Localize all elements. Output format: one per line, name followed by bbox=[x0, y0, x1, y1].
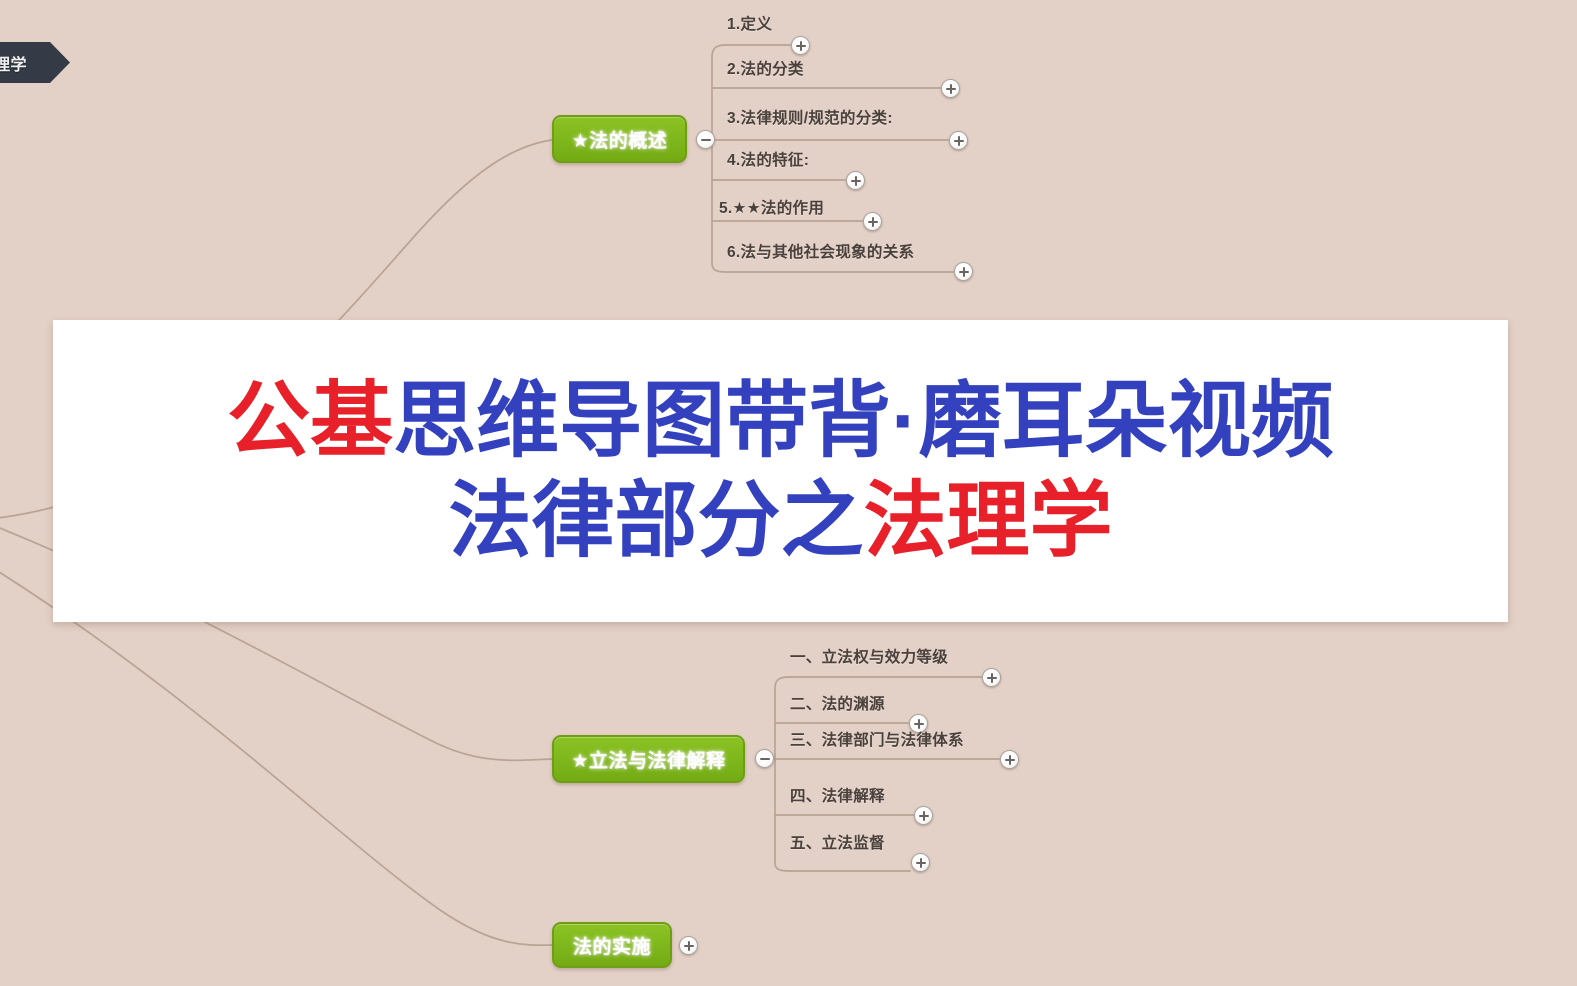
title-line-1-red: 公基 bbox=[227, 374, 393, 467]
plus-icon-enforcement[interactable] bbox=[679, 936, 698, 955]
mindmap-node-legislation-label: ★立法与法律解释 bbox=[571, 746, 725, 773]
title-banner: 公基思维导图带背·磨耳朵视频 法律部分之法理学 bbox=[53, 320, 1508, 622]
plus-icon-overview-2[interactable] bbox=[941, 79, 960, 98]
plus-icon-overview-5[interactable] bbox=[863, 212, 882, 231]
corner-tab-label: 理学 bbox=[0, 51, 27, 75]
title-line-2-red: 法理学 bbox=[864, 474, 1113, 567]
mindmap-node-enforcement-label: 法的实施 bbox=[573, 932, 651, 959]
mindmap-subnode-legislation-2[interactable]: 二、法的渊源 bbox=[790, 692, 885, 714]
plus-icon-overview-4[interactable] bbox=[846, 171, 865, 190]
plus-icon-legislation-1[interactable] bbox=[982, 668, 1001, 687]
minus-icon-overview[interactable] bbox=[696, 130, 715, 149]
mindmap-subnode-legislation-4[interactable]: 四、法律解释 bbox=[790, 784, 885, 806]
mindmap-canvas: 理学 ★法的概述 1.定义 2.法的分类 3.法律规则/规范的分类: 4.法的特… bbox=[0, 0, 1577, 986]
plus-icon-overview-3[interactable] bbox=[949, 131, 968, 150]
mindmap-subnode-legislation-5[interactable]: 五、立法监督 bbox=[790, 831, 885, 853]
mindmap-subnode-overview-5[interactable]: 5.★★法的作用 bbox=[719, 196, 824, 218]
title-line-1-blue: 思维导图带背·磨耳朵视频 bbox=[393, 374, 1334, 467]
plus-icon-legislation-5[interactable] bbox=[911, 853, 930, 872]
title-line-1: 公基思维导图带背·磨耳朵视频 bbox=[227, 376, 1334, 466]
plus-icon-legislation-4[interactable] bbox=[914, 806, 933, 825]
mindmap-node-overview-label: ★法的概述 bbox=[572, 126, 668, 153]
minus-icon-legislation[interactable] bbox=[755, 749, 774, 768]
mindmap-subnode-legislation-3[interactable]: 三、法律部门与法律体系 bbox=[790, 728, 964, 750]
plus-icon-overview-6[interactable] bbox=[954, 262, 973, 281]
title-line-2: 法律部分之法理学 bbox=[449, 476, 1113, 566]
mindmap-subnode-overview-3[interactable]: 3.法律规则/规范的分类: bbox=[727, 106, 893, 128]
mindmap-subnode-overview-1[interactable]: 1.定义 bbox=[727, 12, 772, 34]
mindmap-subnode-overview-2[interactable]: 2.法的分类 bbox=[727, 57, 804, 79]
corner-tab[interactable]: 理学 bbox=[0, 42, 70, 83]
mindmap-subnode-legislation-1[interactable]: 一、立法权与效力等级 bbox=[790, 645, 948, 667]
mindmap-subnode-overview-6[interactable]: 6.法与其他社会现象的关系 bbox=[727, 240, 914, 262]
mindmap-node-enforcement[interactable]: 法的实施 bbox=[552, 922, 672, 968]
mindmap-node-overview[interactable]: ★法的概述 bbox=[552, 115, 687, 163]
mindmap-node-legislation[interactable]: ★立法与法律解释 bbox=[552, 735, 745, 783]
title-line-2-blue: 法律部分之 bbox=[449, 474, 864, 567]
plus-icon-legislation-3[interactable] bbox=[1000, 750, 1019, 769]
plus-icon-overview-1[interactable] bbox=[791, 36, 810, 55]
mindmap-subnode-overview-4[interactable]: 4.法的特征: bbox=[727, 148, 809, 170]
